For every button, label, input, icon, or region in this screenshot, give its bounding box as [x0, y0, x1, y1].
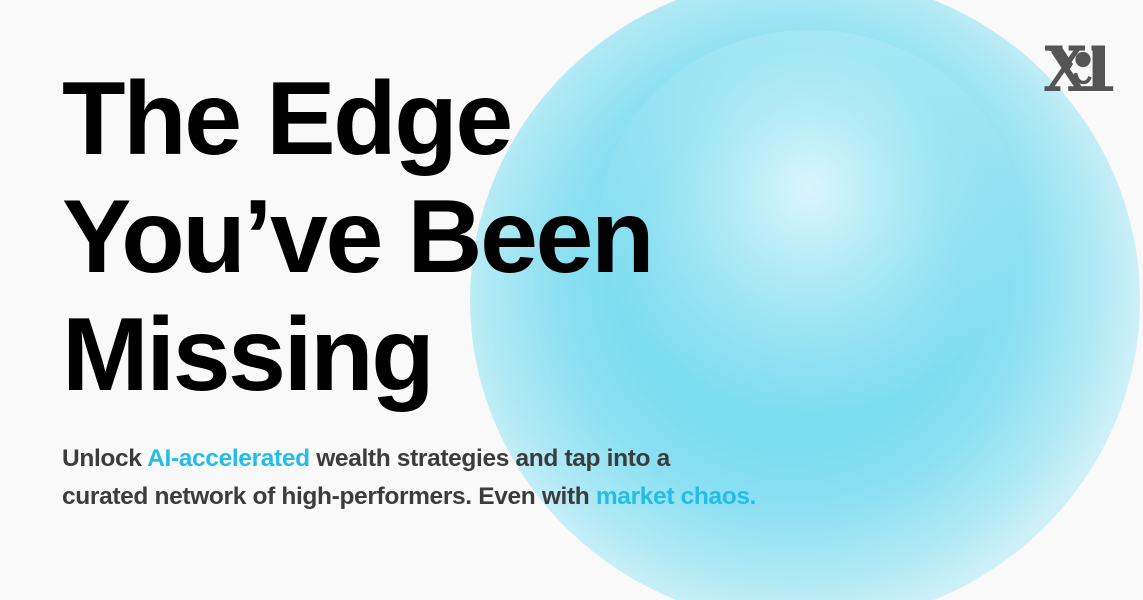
subtitle-accent-ai-accelerated: AI-accelerated	[147, 445, 310, 472]
hero-banner: The Edge You’ve Been Missing Unlock AI-a…	[0, 0, 1143, 600]
hero-subtitle: Unlock AI-accelerated wealth strategies …	[62, 414, 762, 516]
hero-content: The Edge You’ve Been Missing Unlock AI-a…	[62, 0, 802, 516]
x1-monogram-logo[interactable]	[1043, 42, 1115, 94]
subtitle-accent-market-chaos: market chaos.	[596, 483, 756, 510]
page-title: The Edge You’ve Been Missing	[62, 0, 802, 414]
subtitle-part-1: Unlock	[62, 445, 147, 472]
